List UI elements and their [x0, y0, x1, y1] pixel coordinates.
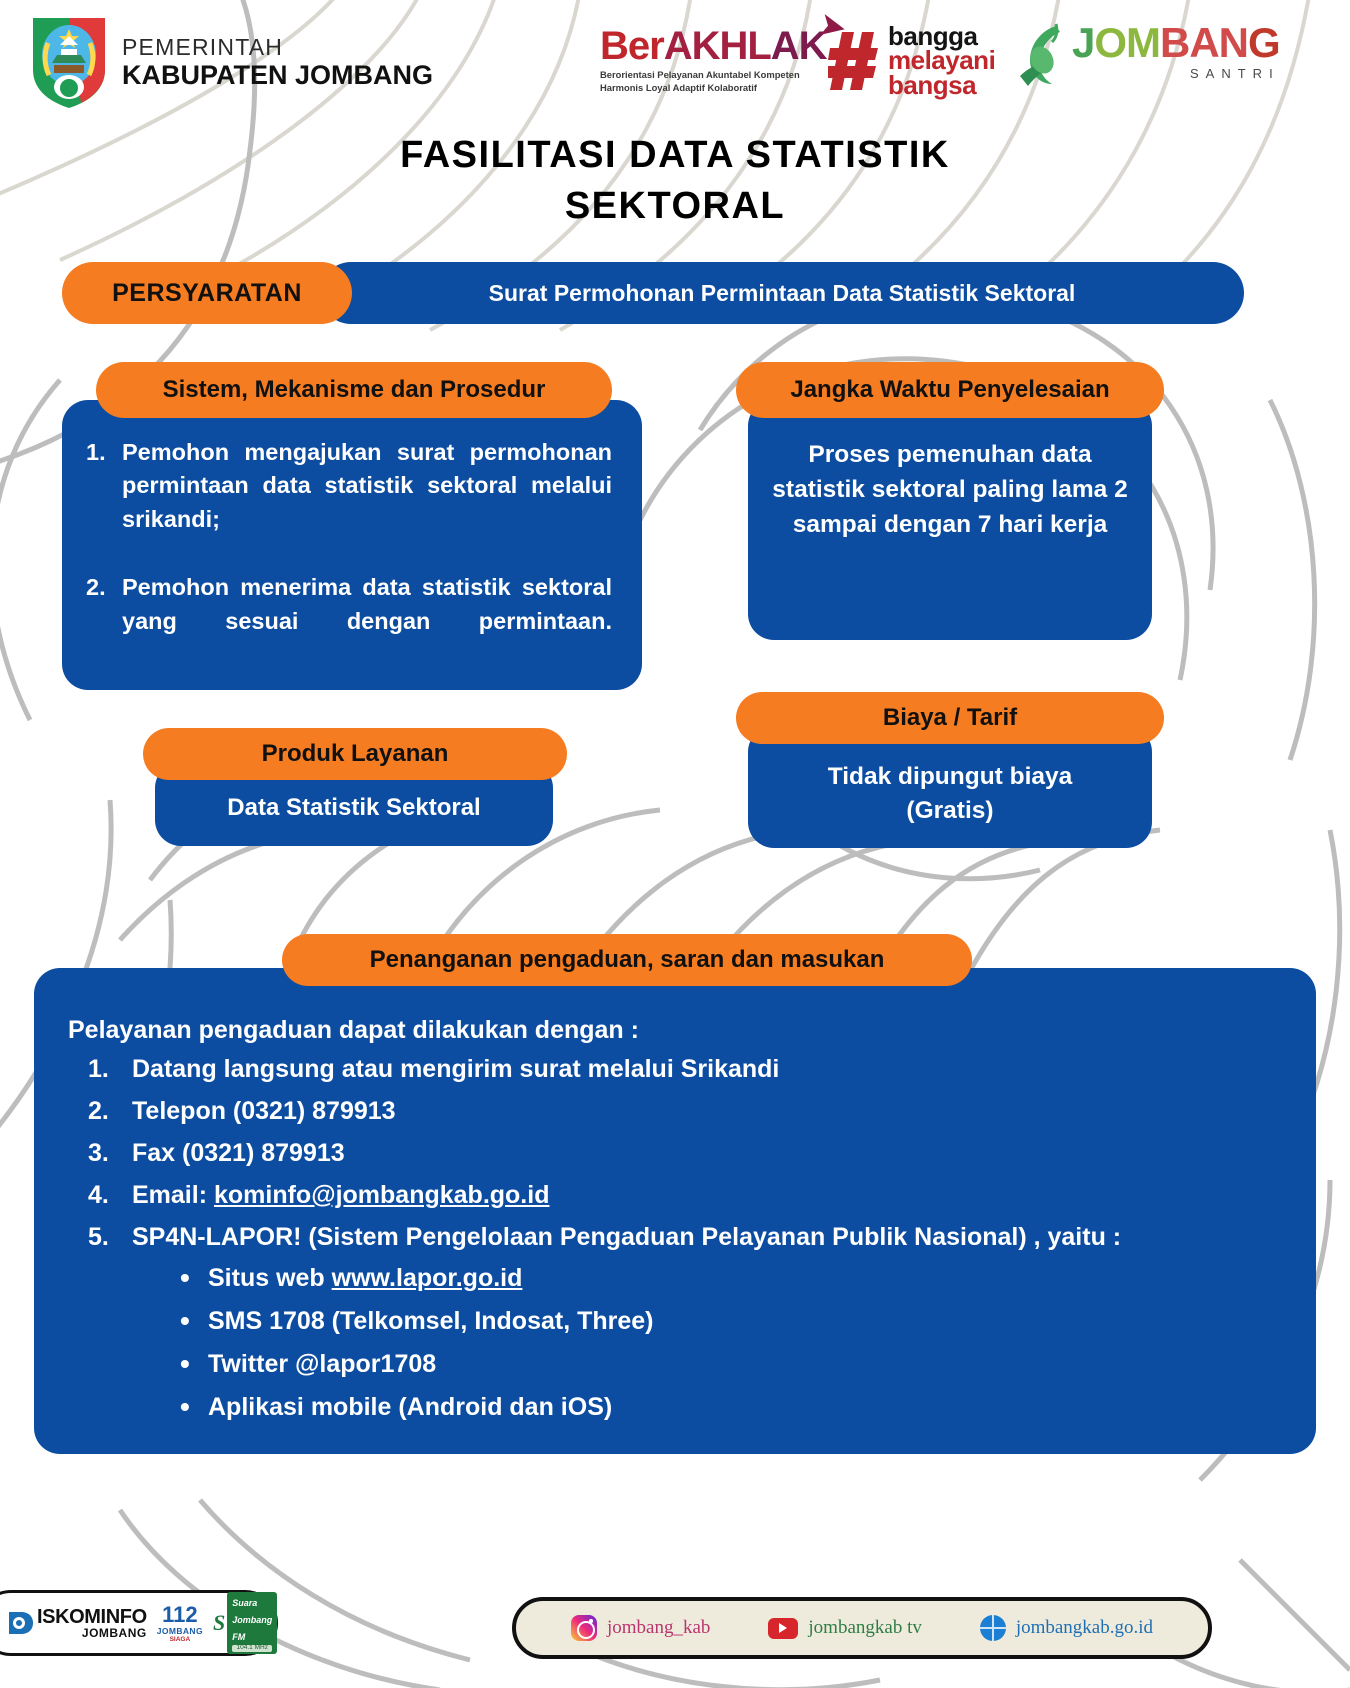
sistem-item-text: Pemohon mengajukan surat permohonan perm… [122, 436, 612, 569]
logo-112-number: 112 [157, 1604, 203, 1626]
globe-icon [980, 1615, 1006, 1641]
gov-line-1: PEMERINTAH [122, 36, 433, 59]
radio-frequency: 104.1 MHz [232, 1645, 272, 1652]
lapor-website-link[interactable]: www.lapor.go.id [332, 1264, 523, 1292]
pengaduan-intro: Pelayanan pengaduan dapat dilakukan deng… [68, 1014, 1276, 1047]
jombang-wordmark: JOMBANG [1072, 22, 1280, 64]
sistem-item-text: Pemohon menerima data statistik sektoral… [122, 571, 612, 671]
youtube-handle: jombangkab tv [808, 1617, 921, 1639]
bangga-lines: bangga melayani bangsa [888, 24, 995, 97]
logo-112-jombang-siaga: 112 JOMBANG SIAGA [157, 1604, 203, 1643]
pengaduan-item-4-prefix: Email: [132, 1181, 214, 1209]
page-title: FASILITASI DATA STATISTIK SEKTORAL [0, 130, 1350, 233]
lapor-twitter-text: Twitter @lapor1708 [208, 1350, 436, 1378]
lapor-channel-mobile: Aplikasi mobile (Android dan iOS) [178, 1391, 1276, 1424]
lapor-website-prefix: Situs web [208, 1264, 332, 1292]
berakhlak-sub-line-1: Berorientasi Pelayanan Akuntabel Kompete… [600, 69, 825, 82]
lapor-channel-website: Situs web www.lapor.go.id [178, 1262, 1276, 1295]
social-website[interactable]: jombangkab.go.id [980, 1615, 1153, 1641]
jombang-part-3: BAN [1160, 19, 1248, 66]
berakhlak-subtitle: Berorientasi Pelayanan Akuntabel Kompete… [600, 69, 825, 94]
pengaduan-item-1-text: Datang langsung atau mengirim surat mela… [132, 1055, 779, 1083]
logo-112-tag: SIAGA [157, 1636, 203, 1643]
jangka-waktu-panel: Proses pemenuhan data statistik sektoral… [748, 400, 1152, 640]
berakhlak-sub-line-2: Harmonis Loyal Adaptif Kolaboratif [600, 82, 825, 95]
persyaratan-label: PERSYARATAN [62, 262, 352, 324]
berakhlak-wordmark: BerAKHLAK ➤ [600, 26, 827, 66]
pengaduan-item-3-text: Fax (0321) 879913 [132, 1139, 345, 1167]
lapor-channel-sms: SMS 1708 (Telkomsel, Indosat, Three) [178, 1305, 1276, 1338]
santri-label: SANTRI [1072, 66, 1280, 81]
jombang-crest-icon [30, 15, 108, 111]
social-youtube[interactable]: jombangkab tv [768, 1617, 921, 1639]
biaya-line-2: (Gratis) [764, 794, 1136, 828]
radio-title: Suara Jombang FM [232, 1598, 272, 1642]
berakhlak-logo: BerAKHLAK ➤ Berorientasi Pelayanan Akunt… [600, 26, 825, 94]
social-instagram[interactable]: jombang_kab [571, 1615, 710, 1641]
jangka-waktu-heading: Jangka Waktu Penyelesaian [736, 362, 1164, 418]
persyaratan-value: Surat Permohonan Permintaan Data Statist… [320, 262, 1244, 324]
jombang-part-4: G [1248, 19, 1280, 66]
sistem-mekanisme-panel: Pemohon mengajukan surat permohonan perm… [62, 400, 642, 690]
infographic-page: PEMERINTAH KABUPATEN JOMBANG BerAKHLAK ➤… [0, 0, 1350, 1688]
footer-partner-logos: ISKOMINFO JOMBANG 112 JOMBANG SIAGA S Su… [0, 1590, 278, 1656]
pengaduan-item-1: Datang langsung atau mengirim surat mela… [88, 1053, 1276, 1086]
pengaduan-heading: Penanganan pengaduan, saran dan masukan [282, 934, 972, 986]
bangga-line-3: bangsa [888, 73, 995, 97]
logo-112-name: JOMBANG [157, 1626, 203, 1636]
gov-line-2: KABUPATEN JOMBANG [122, 62, 433, 89]
website-handle: jombangkab.go.id [1016, 1617, 1153, 1639]
pengaduan-item-4: Email: kominfo@jombangkab.go.id [88, 1179, 1276, 1212]
jombang-part-2: OM [1094, 19, 1160, 66]
berakhlak-part-1: Ber [600, 24, 664, 68]
radio-mark: S [213, 1610, 225, 1636]
pengaduan-item-5-text: SP4N-LAPOR! (Sistem Pengelolaan Pengadua… [132, 1223, 1121, 1251]
youtube-icon [768, 1618, 798, 1639]
radio-name-bar: Suara Jombang FM 104.1 MHz [227, 1592, 277, 1653]
instagram-handle: jombang_kab [607, 1617, 710, 1639]
sistem-list-item: Pemohon mengajukan surat permohonan perm… [86, 436, 612, 569]
page-title-line-1: FASILITASI DATA STATISTIK [0, 130, 1350, 181]
footer-social-bar: jombang_kab jombangkab tv jombangkab.go.… [512, 1597, 1212, 1659]
sistem-mekanisme-heading: Sistem, Mekanisme dan Prosedur [96, 362, 612, 418]
lapor-mobile-text: Aplikasi mobile (Android dan iOS) [208, 1393, 612, 1421]
email-link[interactable]: kominfo@jombangkab.go.id [214, 1181, 550, 1209]
pengaduan-item-3: Fax (0321) 879913 [88, 1137, 1276, 1170]
government-logo: PEMERINTAH KABUPATEN JOMBANG [30, 15, 433, 111]
produk-layanan-heading: Produk Layanan [143, 728, 567, 780]
jombang-ornament-icon [1012, 22, 1072, 94]
jombang-part-1: J [1072, 19, 1094, 66]
pengaduan-panel: Pelayanan pengaduan dapat dilakukan deng… [34, 968, 1316, 1454]
diskominfo-name: ISKOMINFO [37, 1607, 147, 1627]
lapor-sms-text: SMS 1708 (Telkomsel, Indosat, Three) [208, 1307, 654, 1335]
persyaratan-row: Surat Permohonan Permintaan Data Statist… [62, 262, 352, 324]
berakhlak-part-2: AKHL [664, 24, 771, 68]
sistem-list: Pemohon mengajukan surat permohonan perm… [86, 436, 612, 672]
biaya-line-1: Tidak dipungut biaya [764, 760, 1136, 794]
page-title-line-2: SEKTORAL [0, 181, 1350, 232]
jombang-santri-logo: JOMBANG SANTRI [1012, 22, 1280, 94]
diskominfo-logo: ISKOMINFO JOMBANG [7, 1607, 147, 1639]
pengaduan-item-2-text: Telepon (0321) 879913 [132, 1097, 396, 1125]
pengaduan-list: Datang langsung atau mengirim surat mela… [88, 1053, 1276, 1424]
pengaduan-item-5: SP4N-LAPOR! (Sistem Pengelolaan Pengadua… [88, 1221, 1276, 1424]
lapor-channel-twitter: Twitter @lapor1708 [178, 1348, 1276, 1381]
hashtag-icon [828, 30, 880, 92]
diskominfo-sub: JOMBANG [37, 1627, 147, 1639]
biaya-tarif-panel: Tidak dipungut biaya (Gratis) [748, 726, 1152, 848]
bangga-melayani-bangsa-logo: bangga melayani bangsa [828, 24, 995, 97]
diskominfo-text: ISKOMINFO JOMBANG [37, 1607, 147, 1639]
instagram-icon [571, 1615, 597, 1641]
lapor-channel-list: Situs web www.lapor.go.id SMS 1708 (Telk… [178, 1262, 1276, 1424]
biaya-tarif-heading: Biaya / Tarif [736, 692, 1164, 744]
header: PEMERINTAH KABUPATEN JOMBANG BerAKHLAK ➤… [0, 0, 1350, 125]
suara-jombang-fm-logo: S Suara Jombang FM 104.1 MHz [213, 1592, 277, 1653]
diskominfo-mark-icon [7, 1609, 35, 1637]
sistem-list-item: Pemohon menerima data statistik sektoral… [86, 571, 612, 671]
pengaduan-item-2: Telepon (0321) 879913 [88, 1095, 1276, 1128]
government-title: PEMERINTAH KABUPATEN JOMBANG [122, 36, 433, 89]
